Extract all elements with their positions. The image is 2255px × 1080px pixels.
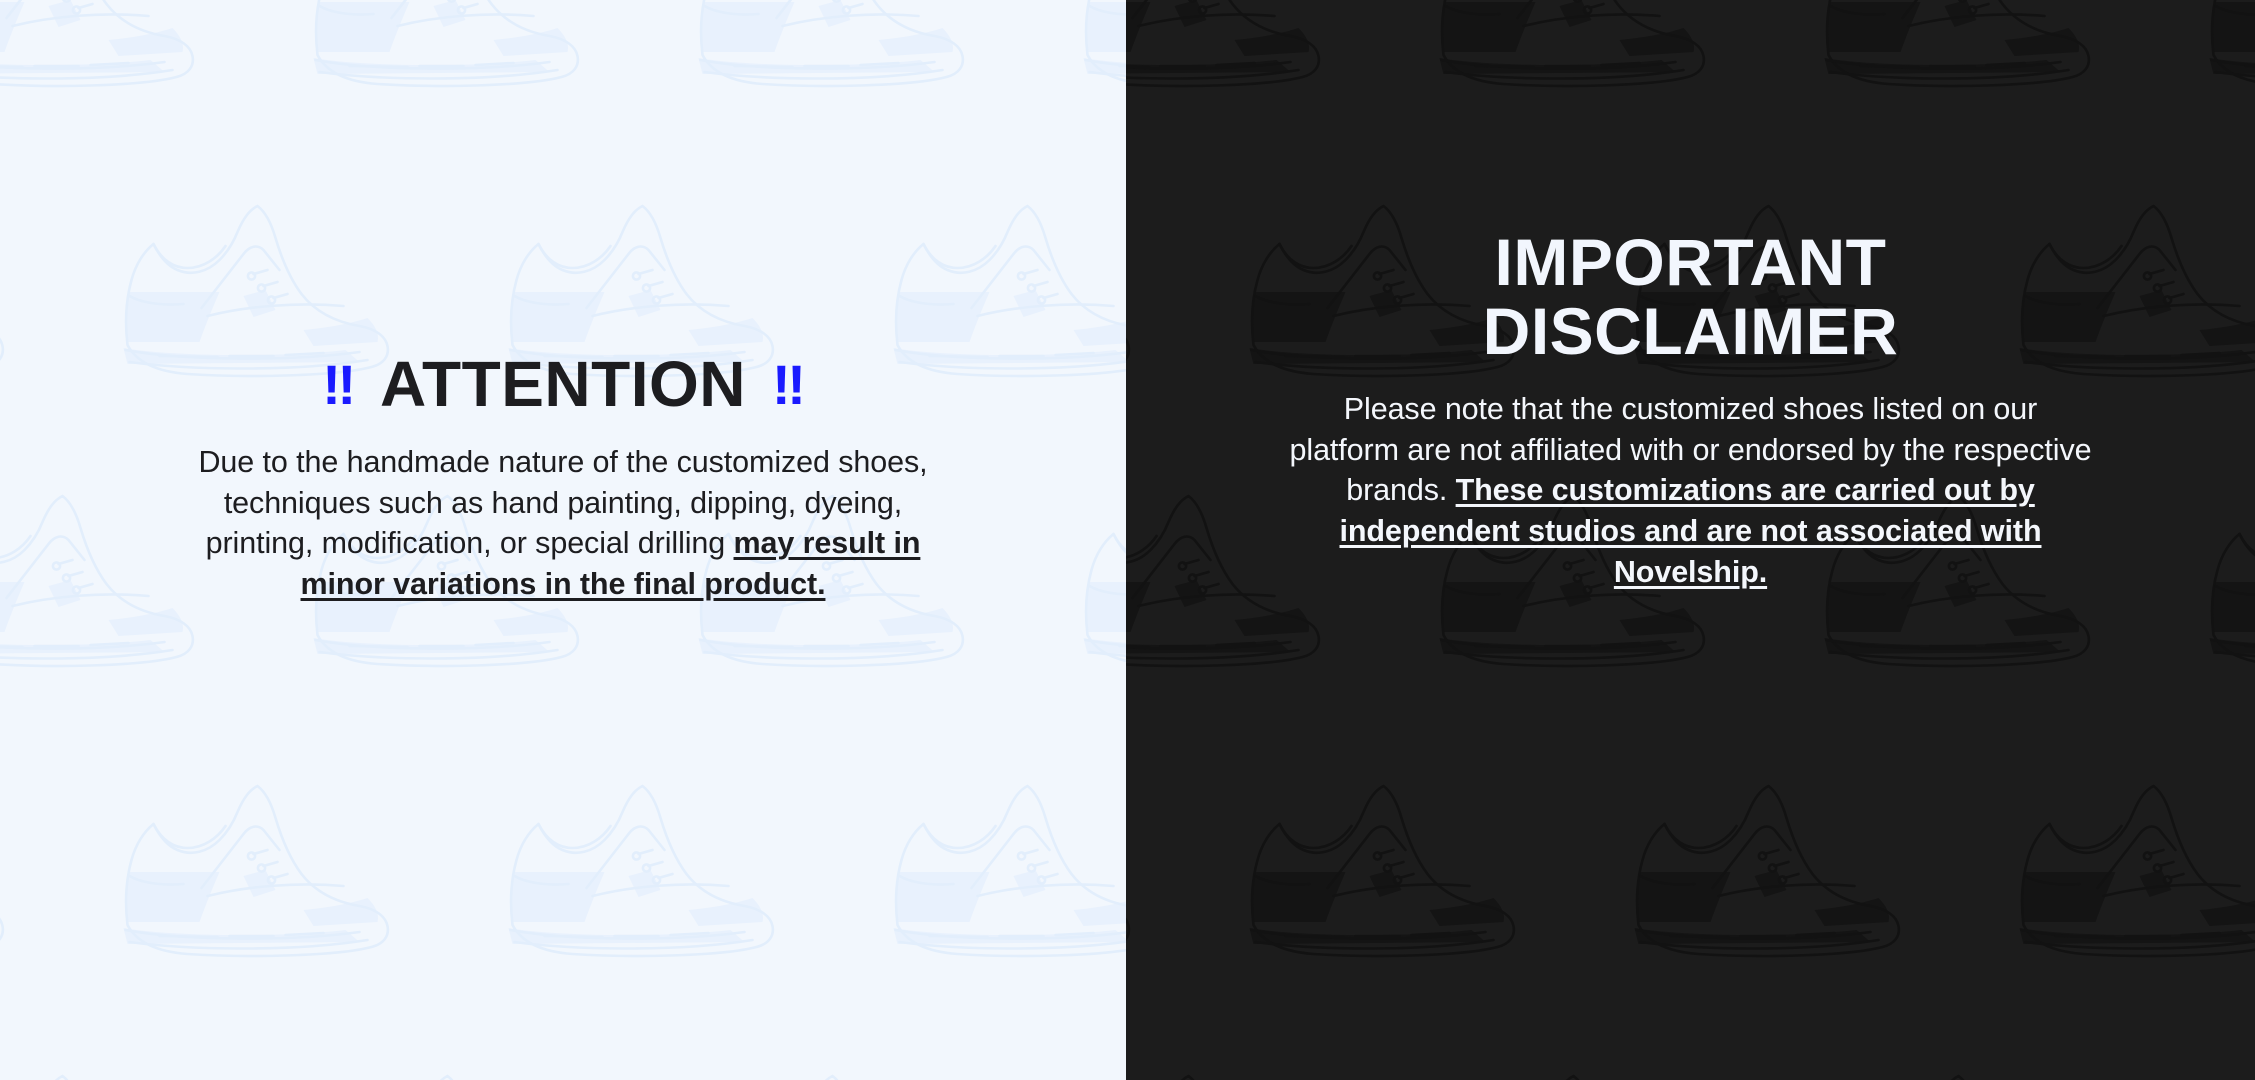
disclaimer-heading-line-1: IMPORTANT <box>1341 228 2041 297</box>
disclaimer-banner: ‼ ATTENTION ‼ Due to the handmade nature… <box>0 0 2255 1080</box>
attention-heading: ‼ ATTENTION ‼ <box>322 352 804 416</box>
attention-heading-text: ATTENTION <box>380 352 746 416</box>
disclaimer-content: IMPORTANT DISCLAIMER Please note that th… <box>1126 0 2255 592</box>
disclaimer-panel: IMPORTANT DISCLAIMER Please note that th… <box>1126 0 2255 1080</box>
double-exclamation-icon-right: ‼ <box>772 357 804 413</box>
disclaimer-heading: IMPORTANT DISCLAIMER <box>1341 228 2041 365</box>
attention-body: Due to the handmade nature of the custom… <box>168 416 958 604</box>
disclaimer-heading-line-2: DISCLAIMER <box>1341 297 2041 366</box>
double-exclamation-icon-left: ‼ <box>322 357 354 413</box>
attention-content: ‼ ATTENTION ‼ Due to the handmade nature… <box>0 0 1126 604</box>
disclaimer-body: Please note that the customized shoes li… <box>1286 365 2096 592</box>
attention-panel: ‼ ATTENTION ‼ Due to the handmade nature… <box>0 0 1126 1080</box>
